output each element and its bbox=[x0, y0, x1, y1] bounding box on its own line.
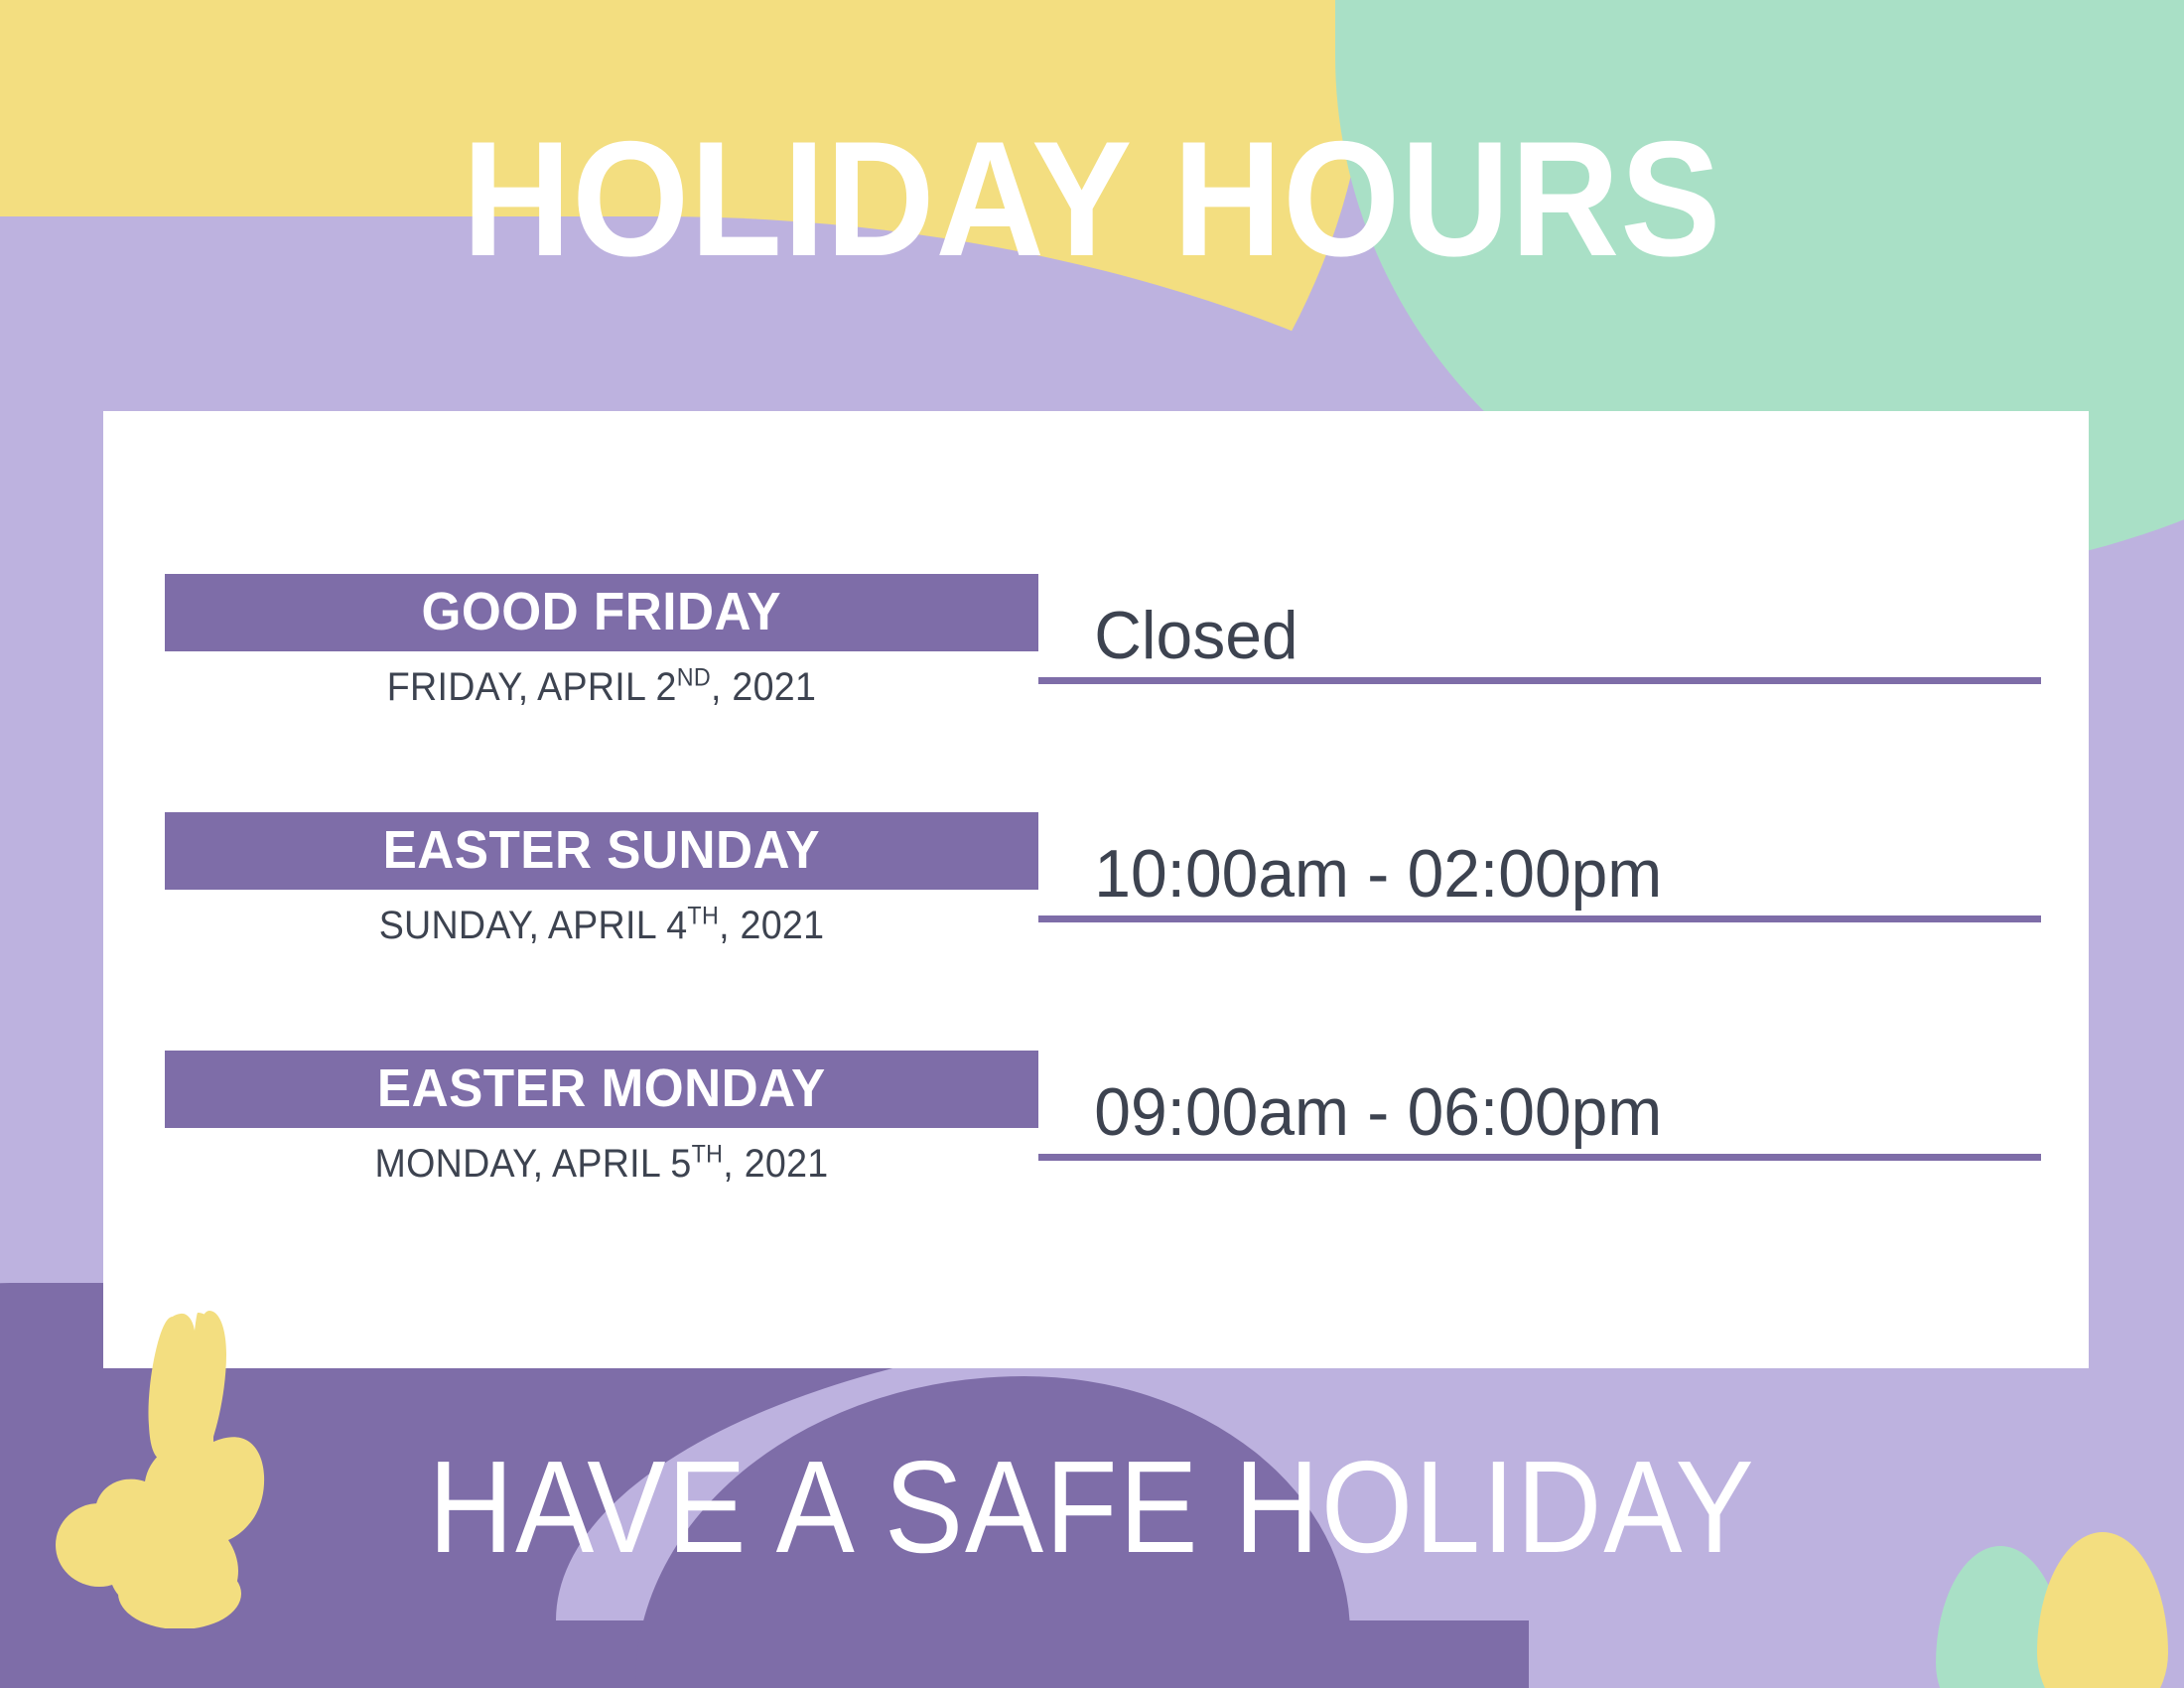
schedule-row-hours-block: 10:00am - 02:00pm bbox=[1038, 812, 2041, 922]
date-suffix: , 2021 bbox=[719, 904, 824, 947]
day-name-bar: GOOD FRIDAY bbox=[165, 574, 1038, 651]
day-date-label: MONDAY, APRIL 5TH, 2021 bbox=[191, 1144, 1012, 1184]
schedule-row-day-block: EASTER SUNDAY SUNDAY, APRIL 4TH, 2021 bbox=[165, 812, 1038, 945]
day-name-bar: EASTER MONDAY bbox=[165, 1051, 1038, 1128]
footer-message: HAVE A SAFE HOLIDAY bbox=[109, 1442, 2075, 1573]
schedule-row-hours-block: Closed bbox=[1038, 574, 2041, 684]
schedule-row-day-block: EASTER MONDAY MONDAY, APRIL 5TH, 2021 bbox=[165, 1051, 1038, 1184]
day-name-label: EASTER SUNDAY bbox=[383, 823, 820, 877]
schedule-row: GOOD FRIDAY FRIDAY, APRIL 2ND, 2021 Clos… bbox=[165, 574, 2041, 812]
day-name-bar: EASTER SUNDAY bbox=[165, 812, 1038, 890]
schedule-row-hours-block: 09:00am - 06:00pm bbox=[1038, 1051, 2041, 1161]
date-prefix: FRIDAY, APRIL 2 bbox=[387, 665, 677, 709]
date-suffix: , 2021 bbox=[711, 665, 816, 709]
hours-label: 09:00am - 06:00pm bbox=[1038, 1077, 1662, 1154]
date-suffix: , 2021 bbox=[723, 1142, 828, 1186]
schedule-card: GOOD FRIDAY FRIDAY, APRIL 2ND, 2021 Clos… bbox=[103, 411, 2089, 1368]
hours-label: Closed bbox=[1038, 601, 1298, 677]
date-prefix: SUNDAY, APRIL 4 bbox=[379, 904, 688, 947]
date-ordinal: TH bbox=[687, 904, 719, 930]
date-prefix: MONDAY, APRIL 5 bbox=[375, 1142, 692, 1186]
schedule-row-day-block: GOOD FRIDAY FRIDAY, APRIL 2ND, 2021 bbox=[165, 574, 1038, 707]
hours-label: 10:00am - 02:00pm bbox=[1038, 839, 1662, 915]
holiday-hours-poster: HOLIDAY HOURS GOOD FRIDAY FRIDAY, APRIL … bbox=[0, 0, 2184, 1688]
day-name-label: EASTER MONDAY bbox=[377, 1061, 826, 1115]
day-name-label: GOOD FRIDAY bbox=[422, 585, 781, 638]
date-ordinal: TH bbox=[692, 1142, 724, 1169]
page-title: HOLIDAY HOURS bbox=[87, 117, 2097, 281]
schedule-row: EASTER SUNDAY SUNDAY, APRIL 4TH, 2021 10… bbox=[165, 812, 2041, 1051]
day-date-label: SUNDAY, APRIL 4TH, 2021 bbox=[191, 906, 1012, 945]
day-date-label: FRIDAY, APRIL 2ND, 2021 bbox=[191, 667, 1012, 707]
schedule-rows: GOOD FRIDAY FRIDAY, APRIL 2ND, 2021 Clos… bbox=[165, 574, 2041, 1289]
schedule-row: EASTER MONDAY MONDAY, APRIL 5TH, 2021 09… bbox=[165, 1051, 2041, 1289]
date-ordinal: ND bbox=[677, 665, 711, 692]
